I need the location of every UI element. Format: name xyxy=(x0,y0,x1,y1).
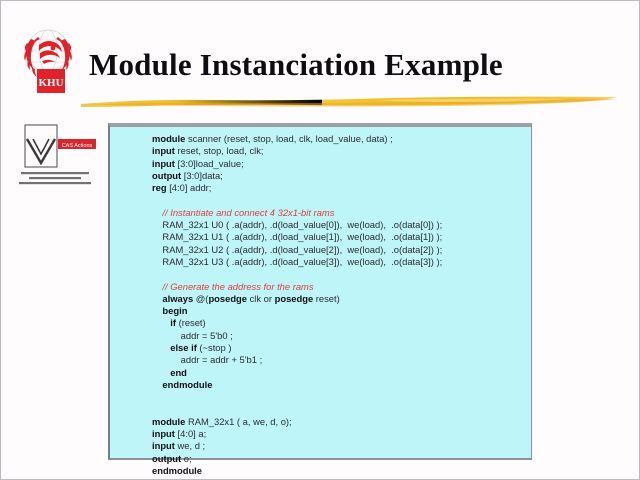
code-keyword: posedge xyxy=(275,293,314,304)
code-block-panel: module scanner (reset, stop, load, clk, … xyxy=(108,123,532,460)
brush-stroke-graphic xyxy=(79,93,619,109)
code-text: clk or xyxy=(247,293,275,304)
code-text xyxy=(152,342,170,353)
code-line: input [4:0] a; xyxy=(152,428,442,440)
code-line xyxy=(152,194,442,206)
code-keyword: input xyxy=(152,428,175,439)
code-keyword: posedge xyxy=(208,293,247,304)
code-line: input we, d ; xyxy=(152,440,442,452)
code-line xyxy=(152,404,442,416)
code-text: scanner (reset, stop, load, clk, load_va… xyxy=(185,133,392,144)
code-keyword: end xyxy=(170,367,187,378)
code-line: reg [4:0] addr; xyxy=(152,182,442,194)
code-line: RAM_32x1 U3 ( .a(addr), .d(load_value[3]… xyxy=(152,256,442,268)
code-line: end xyxy=(152,367,442,379)
code-comment: // Instantiate and connect 4 32x1-bit ra… xyxy=(152,207,334,218)
code-line: endmodule xyxy=(152,379,442,391)
code-keyword: endmodule xyxy=(152,465,202,476)
code-keyword: module xyxy=(152,416,185,427)
code-line: addr = addr + 5'b1 ; xyxy=(152,354,442,366)
code-line xyxy=(152,268,442,280)
code-keyword: begin xyxy=(162,305,187,316)
khu-logo: KHU xyxy=(15,25,85,97)
code-keyword: input xyxy=(152,440,175,451)
code-line: input [3:0]load_value; xyxy=(152,158,442,170)
code-keyword: input xyxy=(152,145,175,156)
code-text: [4:0] addr; xyxy=(167,182,212,193)
code-line: input reset, stop, load, clk; xyxy=(152,145,442,157)
code-text: RAM_32x1 U1 ( .a(addr), .d(load_value[1]… xyxy=(152,231,442,242)
code-text: RAM_32x1 ( a, we, d, o); xyxy=(185,416,291,427)
code-keyword: always xyxy=(162,293,193,304)
code-line: if (reset) xyxy=(152,317,442,329)
code-comment: // Generate the address for the rams xyxy=(152,281,314,292)
code-line: output o; xyxy=(152,453,442,465)
code-text xyxy=(152,379,162,390)
title-underline-brush xyxy=(79,93,619,109)
code-text: [4:0] a; xyxy=(175,428,206,439)
code-keyword: input xyxy=(152,158,175,169)
code-keyword: output xyxy=(152,170,181,181)
code-text: we, d ; xyxy=(175,440,205,451)
code-text: RAM_32x1 U2 ( .a(addr), .d(load_value[2]… xyxy=(152,244,442,255)
slide-canvas: KHU Module Instanciation Example xyxy=(0,0,640,480)
code-line: always @(posedge clk or posedge reset) xyxy=(152,293,442,305)
side-logo-graphic: CAS Actions xyxy=(9,123,101,193)
code-line: module scanner (reset, stop, load, clk, … xyxy=(152,133,442,145)
code-keyword: output xyxy=(152,453,181,464)
code-line: // Generate the address for the rams xyxy=(152,281,442,293)
code-text: (~stop ) xyxy=(197,342,232,353)
code-line: RAM_32x1 U1 ( .a(addr), .d(load_value[1]… xyxy=(152,231,442,243)
code-line: begin xyxy=(152,305,442,317)
code-text: @( xyxy=(193,293,208,304)
code-text: RAM_32x1 U0 ( .a(addr), .d(load_value[0]… xyxy=(152,219,442,230)
code-keyword: module xyxy=(152,133,185,144)
code-text: addr = addr + 5'b1 ; xyxy=(152,354,262,365)
khu-logo-text: KHU xyxy=(38,77,63,89)
code-text: [3:0]load_value; xyxy=(175,158,244,169)
code-line: RAM_32x1 U0 ( .a(addr), .d(load_value[0]… xyxy=(152,219,442,231)
code-line xyxy=(152,391,442,403)
page-title: Module Instanciation Example xyxy=(89,47,503,83)
side-logo: CAS Actions xyxy=(9,123,101,193)
code-keyword: endmodule xyxy=(162,379,212,390)
code-line: output [3:0]data; xyxy=(152,170,442,182)
code-keyword: else if xyxy=(170,342,197,353)
code-text: reset) xyxy=(313,293,340,304)
code-line: // Instantiate and connect 4 32x1-bit ra… xyxy=(152,207,442,219)
code-line: module RAM_32x1 ( a, we, d, o); xyxy=(152,416,442,428)
code-text: [3:0]data; xyxy=(181,170,223,181)
code-text xyxy=(152,317,170,328)
code-text xyxy=(152,293,162,304)
code-line: else if (~stop ) xyxy=(152,342,442,354)
verilog-code: module scanner (reset, stop, load, clk, … xyxy=(152,133,442,477)
side-logo-badge-text: CAS Actions xyxy=(62,143,93,149)
code-text xyxy=(152,305,162,316)
code-line: RAM_32x1 U2 ( .a(addr), .d(load_value[2]… xyxy=(152,244,442,256)
code-line: endmodule xyxy=(152,465,442,477)
code-text xyxy=(152,367,170,378)
code-keyword: reg xyxy=(152,182,167,193)
khu-logo-graphic: KHU xyxy=(15,25,85,97)
code-text: (reset) xyxy=(176,317,206,328)
code-line: addr = 5'b0 ; xyxy=(152,330,442,342)
code-text: addr = 5'b0 ; xyxy=(152,330,233,341)
code-text: reset, stop, load, clk; xyxy=(175,145,264,156)
code-text: RAM_32x1 U3 ( .a(addr), .d(load_value[3]… xyxy=(152,256,442,267)
code-text: o; xyxy=(181,453,191,464)
